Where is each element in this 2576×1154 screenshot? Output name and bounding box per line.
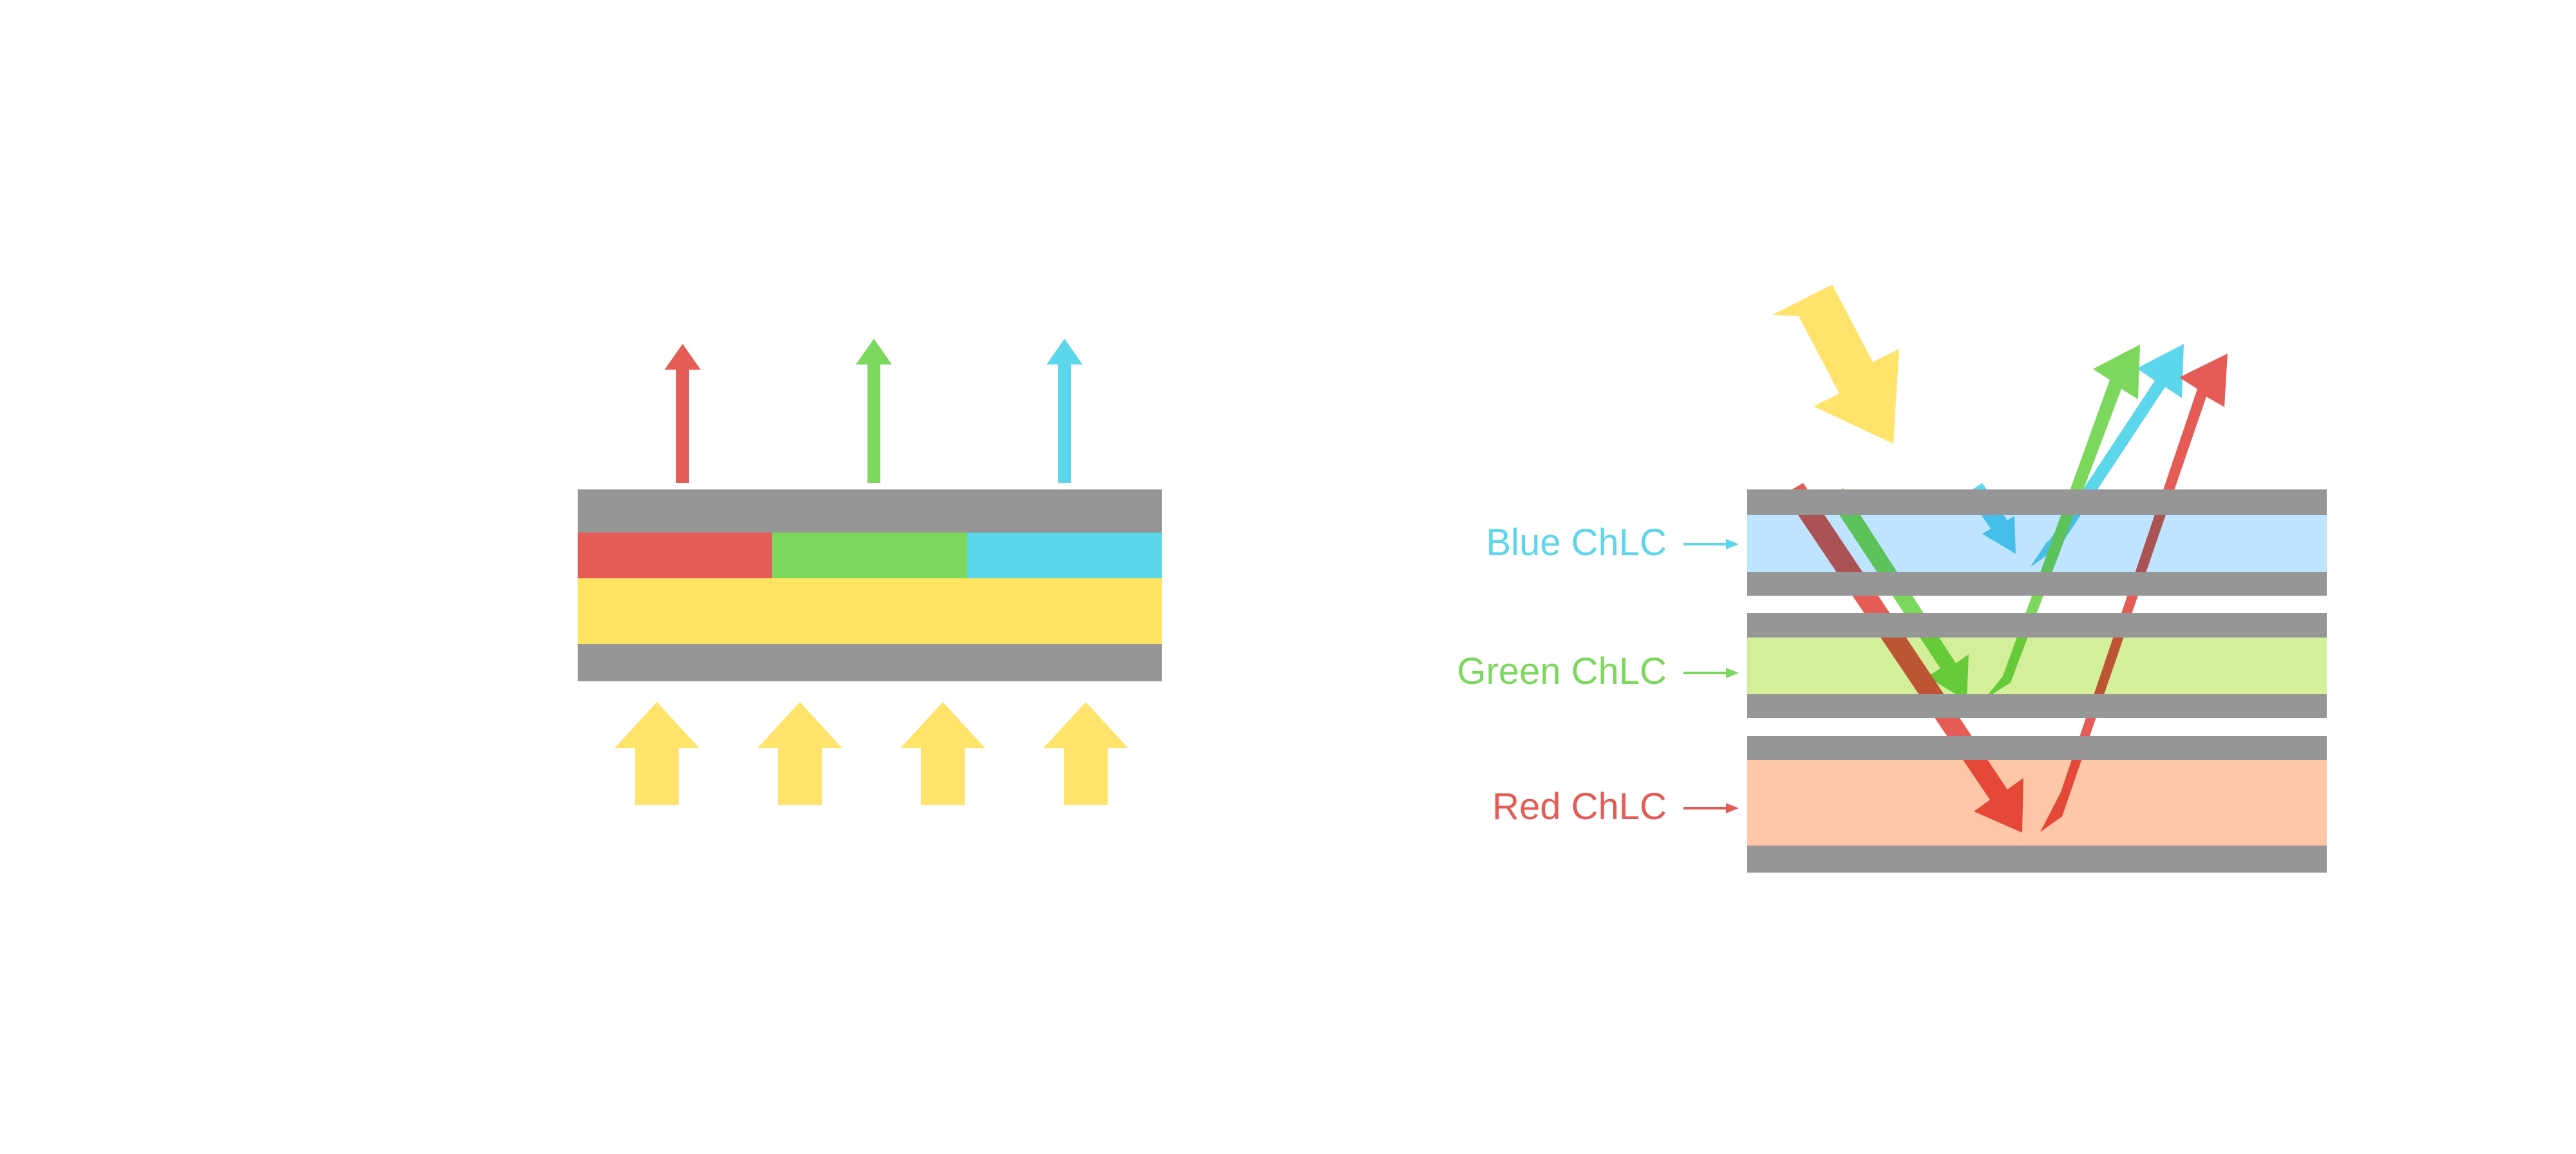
red-chlc-layer-fill: [1747, 760, 2327, 846]
backlight-arrow-4: [1043, 702, 1128, 805]
red-label-arrow-icon: [1683, 803, 1739, 813]
ambient-light-arrow: [1772, 285, 1899, 444]
green-chlc-label-group: Green ChLC: [1457, 650, 1739, 692]
blue-chlc-label-group: Blue ChLC: [1486, 522, 1739, 563]
green-label-arrow-icon: [1683, 668, 1739, 678]
red-chlc-label-group: Red ChLC: [1492, 786, 1739, 828]
figure-canvas: Blue ChLC Green ChLC Red ChLC: [0, 0, 2576, 1154]
color-filter-blue: [967, 533, 1162, 578]
blue-top-substrate-bar: [1747, 489, 2327, 515]
blue-bottom-substrate-bar: [1747, 572, 2327, 596]
red-top-substrate-bar: [1747, 736, 2327, 760]
diagram-svg: Blue ChLC Green ChLC Red ChLC: [0, 0, 2576, 1154]
blue-chlc-layer-fill: [1747, 515, 2327, 572]
color-filter-green: [772, 533, 967, 578]
red-bottom-substrate-bar: [1747, 846, 2327, 873]
blue-chlc-label: Blue ChLC: [1486, 522, 1667, 563]
backlight-arrow-1: [614, 702, 699, 805]
red-chlc-label: Red ChLC: [1492, 786, 1667, 828]
backlight-layer: [578, 578, 1162, 644]
green-top-substrate-bar: [1747, 613, 2327, 638]
blue-label-arrow-icon: [1683, 539, 1739, 549]
backlight-arrow-2: [757, 702, 842, 805]
red-emitted-arrow: [665, 344, 701, 483]
blue-emitted-arrow: [1046, 339, 1083, 483]
green-bottom-substrate-bar: [1747, 694, 2327, 718]
green-emitted-arrow: [856, 339, 892, 483]
color-filter-red: [578, 533, 772, 578]
green-chlc-label: Green ChLC: [1457, 650, 1667, 692]
top-electrode: [578, 489, 1162, 533]
backlight-arrow-3: [900, 702, 985, 805]
bottom-electrode: [578, 644, 1162, 681]
emissive-stack-panel: [578, 339, 1162, 805]
green-chlc-layer-fill: [1747, 638, 2327, 694]
chlc-colored-layers: [1747, 515, 2327, 846]
